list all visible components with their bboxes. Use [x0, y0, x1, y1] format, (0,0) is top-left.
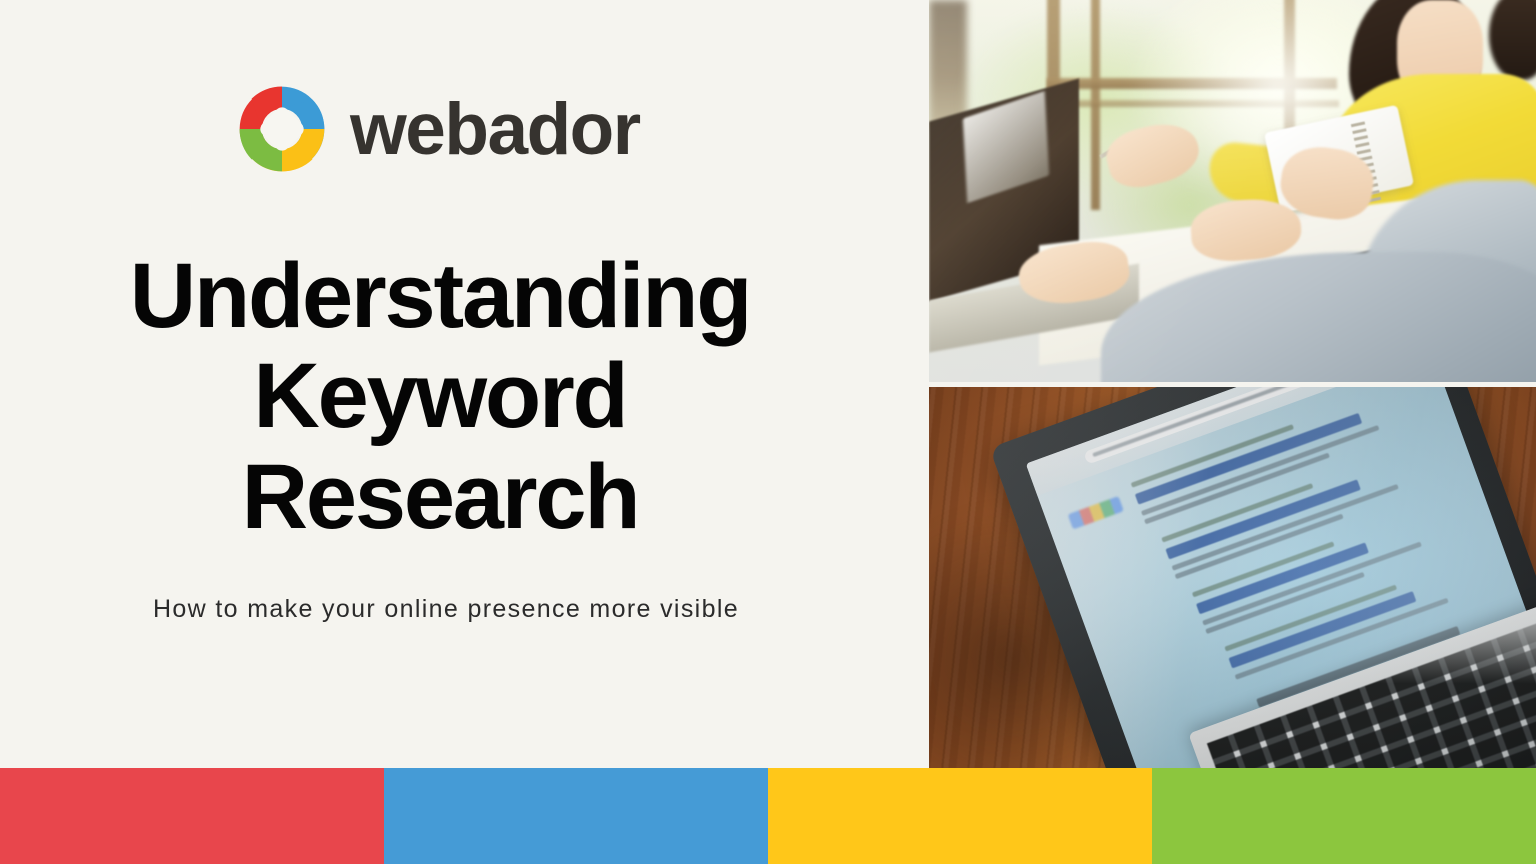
color-bar-segment-blue: [384, 768, 768, 864]
photo-meeting-at-desk: [929, 0, 1536, 382]
slide-subtitle: How to make your online presence more vi…: [126, 592, 766, 627]
brand-logo-lockup: webador: [236, 83, 640, 175]
webador-aperture-logo-icon: [236, 83, 328, 175]
color-bar-segment-green: [1152, 768, 1536, 864]
color-bar-segment-red: [0, 768, 384, 864]
search-engine-logo: [1068, 496, 1124, 530]
slide-image-column: [929, 0, 1536, 768]
color-bar-segment-yellow: [768, 768, 1152, 864]
presentation-slide: webador Understanding Keyword Research H…: [0, 0, 1536, 864]
brand-wordmark: webador: [350, 93, 640, 166]
bottom-color-bar: [0, 768, 1536, 864]
slide-content-column: webador Understanding Keyword Research H…: [0, 0, 929, 768]
slide-headline: Understanding Keyword Research: [60, 246, 820, 547]
photo-laptop-search-results: [929, 387, 1536, 768]
